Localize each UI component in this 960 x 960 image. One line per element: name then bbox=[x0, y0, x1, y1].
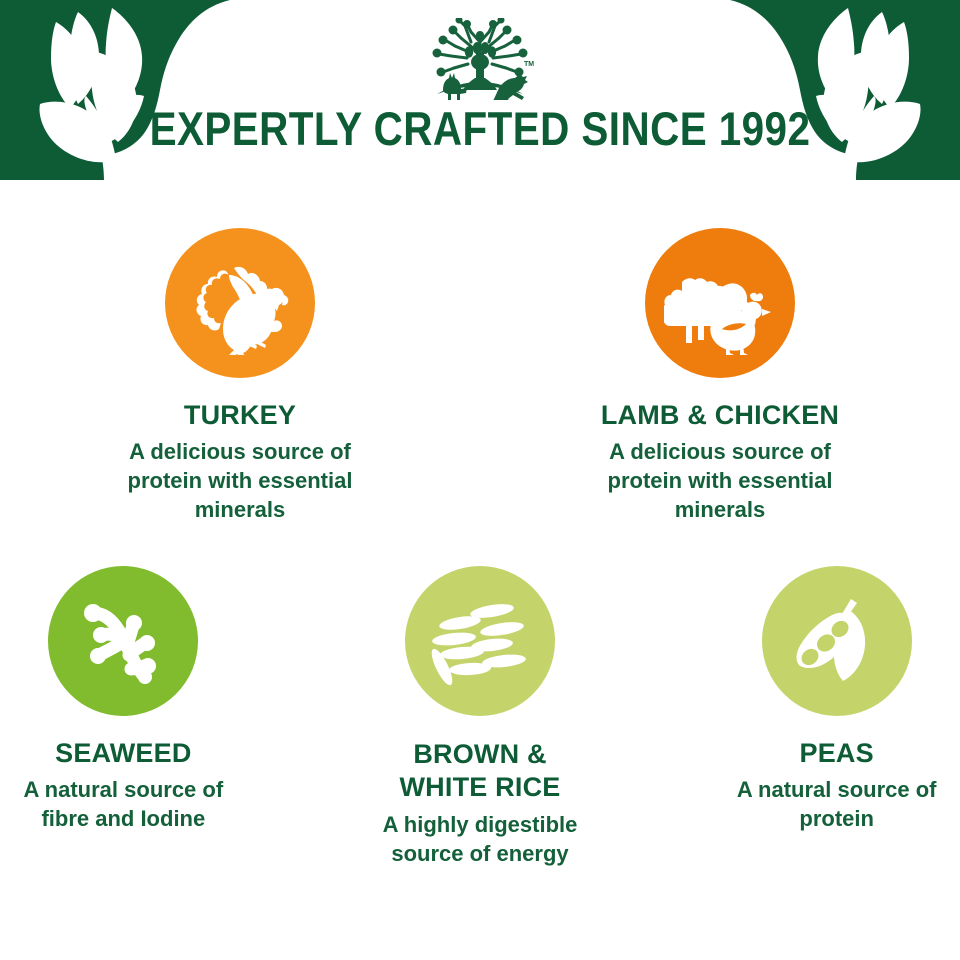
seaweed-icon bbox=[71, 589, 175, 693]
peas-badge bbox=[762, 566, 912, 716]
ingredient-title: LAMB & CHICKEN bbox=[601, 400, 839, 431]
ingredients-row-protein: TURKEY A delicious source of protein wit… bbox=[0, 228, 960, 524]
tree-paw-dog-cat-logo: TM bbox=[421, 18, 539, 100]
header-banner: TM EXPERTLY CRAFTED SINCE 1992 bbox=[0, 0, 960, 180]
seaweed-badge bbox=[48, 566, 198, 716]
ingredient-description: A natural source of fibre and Iodine bbox=[0, 775, 247, 833]
rice-badge bbox=[405, 566, 555, 716]
ingredient-card-rice: BROWN & WHITE RICE A highly digestible s… bbox=[357, 566, 604, 868]
page-title: EXPERTLY CRAFTED SINCE 1992 bbox=[67, 103, 893, 155]
ingredient-description: A delicious source of protein with essen… bbox=[585, 437, 855, 524]
pea-pod-icon bbox=[785, 589, 889, 693]
turkey-badge bbox=[165, 228, 315, 378]
ingredients-row-plant: SEAWEED A natural source of fibre and Io… bbox=[0, 566, 960, 868]
rice-grains-icon bbox=[426, 589, 534, 693]
ingredient-description: A delicious source of protein with essen… bbox=[105, 437, 375, 524]
ingredient-title: PEAS bbox=[800, 738, 874, 769]
ingredient-title-line1: BROWN & bbox=[413, 738, 546, 771]
ingredient-card-seaweed: SEAWEED A natural source of fibre and Io… bbox=[0, 566, 247, 833]
ingredient-title: SEAWEED bbox=[55, 738, 191, 769]
infographic-page: TM EXPERTLY CRAFTED SINCE 1992 bbox=[0, 0, 960, 960]
lamb-chicken-badge bbox=[645, 228, 795, 378]
ingredient-card-lamb-chicken: LAMB & CHICKEN A delicious source of pro… bbox=[575, 228, 865, 524]
ingredient-card-turkey: TURKEY A delicious source of protein wit… bbox=[95, 228, 385, 524]
ingredient-card-peas: PEAS A natural source of protein bbox=[713, 566, 960, 833]
ingredient-title: TURKEY bbox=[184, 400, 296, 431]
ingredient-description: A natural source of protein bbox=[713, 775, 960, 833]
ingredient-title-line2: WHITE RICE bbox=[400, 771, 561, 804]
svg-text:TM: TM bbox=[524, 61, 534, 68]
ingredient-description: A highly digestible source of energy bbox=[357, 810, 604, 868]
lamb-chicken-icon bbox=[664, 251, 776, 355]
turkey-icon bbox=[188, 251, 292, 355]
